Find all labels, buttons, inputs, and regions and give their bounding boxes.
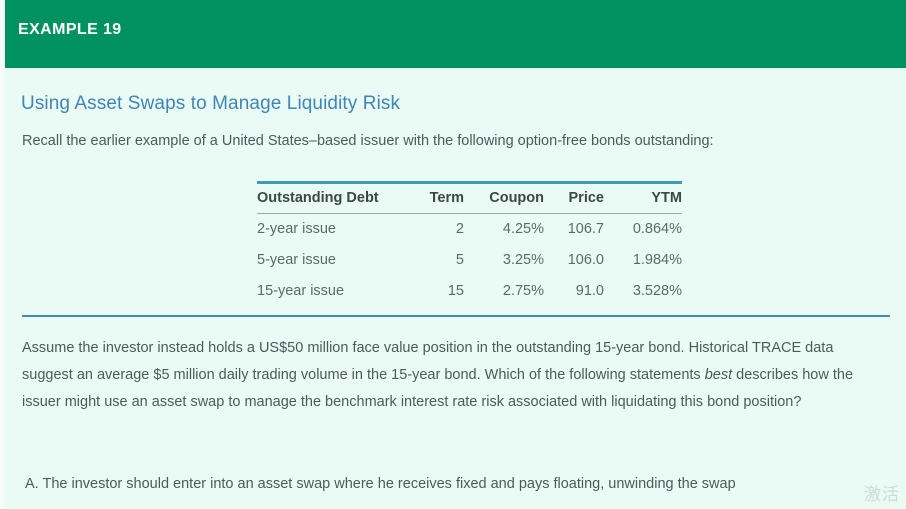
cell-issue-name: 15-year issue <box>257 276 412 307</box>
table-header: Outstanding Debt Term Coupon Price YTM <box>257 183 682 214</box>
question-emphasis-best: best <box>705 367 732 383</box>
example-header-bar: EXAMPLE 19 <box>5 0 906 68</box>
answer-option-a[interactable]: A. The investor should enter into an ass… <box>25 474 887 494</box>
table-body: 2-year issue 2 4.25% 106.7 0.864% 5-year… <box>257 214 682 308</box>
cell-coupon: 3.25% <box>464 245 544 276</box>
cell-coupon: 2.75% <box>464 276 544 307</box>
cell-issue-name: 5-year issue <box>257 245 412 276</box>
cell-price: 91.0 <box>544 276 604 307</box>
column-header-ytm: YTM <box>604 183 682 214</box>
left-edge-strip <box>0 0 5 509</box>
section-title: Using Asset Swaps to Manage Liquidity Ri… <box>21 93 400 115</box>
question-paragraph: Assume the investor instead holds a US$5… <box>22 335 874 416</box>
column-header-coupon: Coupon <box>464 183 544 214</box>
cell-issue-name: 2-year issue <box>257 214 412 246</box>
cell-price: 106.0 <box>544 245 604 276</box>
table-row: 5-year issue 5 3.25% 106.0 1.984% <box>257 245 682 276</box>
outstanding-debt-table: Outstanding Debt Term Coupon Price YTM 2… <box>257 181 682 307</box>
table-row: 15-year issue 15 2.75% 91.0 3.528% <box>257 276 682 307</box>
table-header-row: Outstanding Debt Term Coupon Price YTM <box>257 183 682 214</box>
cell-ytm: 3.528% <box>604 276 682 307</box>
cell-term: 2 <box>412 214 464 246</box>
activation-watermark: 激活 <box>864 480 900 505</box>
cell-term: 5 <box>412 245 464 276</box>
debt-table-container: Outstanding Debt Term Coupon Price YTM 2… <box>257 181 682 307</box>
cell-term: 15 <box>412 276 464 307</box>
section-divider <box>22 315 890 317</box>
intro-paragraph: Recall the earlier example of a United S… <box>22 131 882 151</box>
cell-ytm: 0.864% <box>604 214 682 246</box>
example-number-label: EXAMPLE 19 <box>18 21 122 39</box>
column-header-outstanding-debt: Outstanding Debt <box>257 183 412 214</box>
cell-coupon: 4.25% <box>464 214 544 246</box>
column-header-term: Term <box>412 183 464 214</box>
cell-price: 106.7 <box>544 214 604 246</box>
table-row: 2-year issue 2 4.25% 106.7 0.864% <box>257 214 682 246</box>
cell-ytm: 1.984% <box>604 245 682 276</box>
document-page: EXAMPLE 19 Using Asset Swaps to Manage L… <box>0 0 906 509</box>
example-body: Using Asset Swaps to Manage Liquidity Ri… <box>5 68 906 509</box>
column-header-price: Price <box>544 183 604 214</box>
